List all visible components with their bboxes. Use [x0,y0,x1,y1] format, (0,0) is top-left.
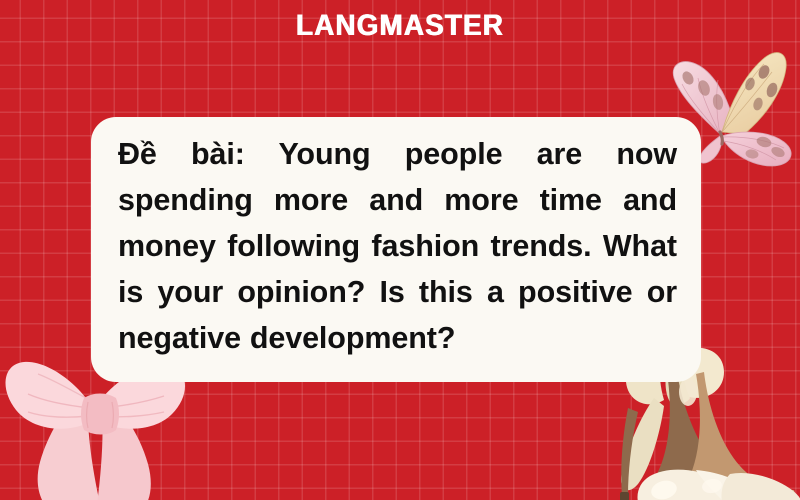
prompt-card: Đề bài: Young people are now spending mo… [91,117,701,382]
prompt-text: Đề bài: Young people are now spending mo… [118,131,677,361]
poster-canvas: LANGMASTER Đề bài: Young people are now … [0,0,800,500]
brand-logo: LANGMASTER [28,10,772,42]
